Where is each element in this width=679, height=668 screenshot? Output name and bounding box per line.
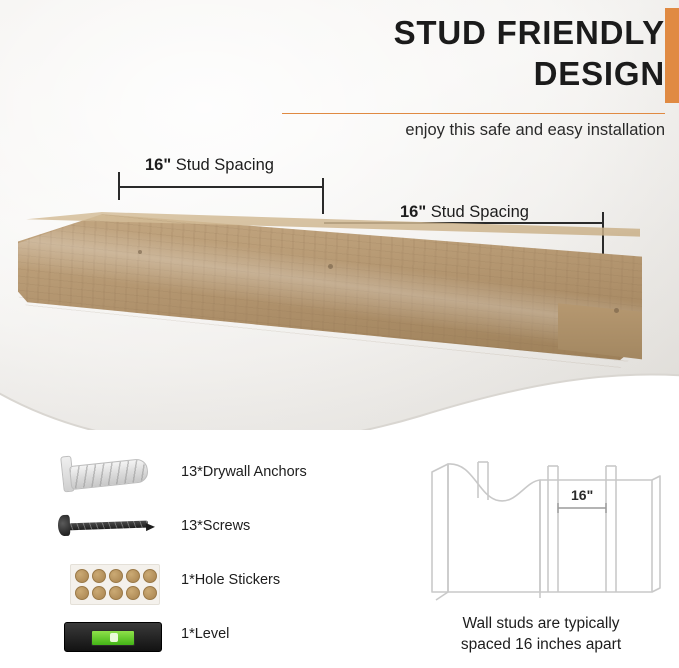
subheadline: enjoy this safe and easy installation bbox=[265, 121, 665, 140]
sticker-dot bbox=[143, 586, 157, 600]
anchor-threads bbox=[70, 459, 148, 489]
anchor-body bbox=[69, 458, 149, 490]
wood-knot bbox=[614, 308, 619, 313]
drywall-anchor-icon bbox=[46, 448, 156, 500]
bubble-level-icon bbox=[46, 610, 156, 662]
dimension-line-left bbox=[118, 186, 324, 188]
wood-knot bbox=[138, 250, 142, 254]
dimension-left-value: 16" bbox=[145, 156, 171, 174]
screw-threads bbox=[66, 521, 148, 531]
accessories-section: 13*Drywall Anchors 13*Screws bbox=[0, 430, 679, 668]
swoosh-divider bbox=[0, 330, 679, 430]
stud-diagram-caption: Wall studs are typically spaced 16 inche… bbox=[416, 614, 666, 656]
headline: STUD FRIENDLY DESIGN bbox=[245, 12, 665, 95]
sticker-dot bbox=[126, 569, 140, 583]
sticker-dot bbox=[75, 569, 89, 583]
dimension-cap-left-start bbox=[118, 172, 120, 200]
screw-shaft bbox=[66, 521, 148, 531]
wall-surface bbox=[448, 464, 540, 592]
wall-stud-diagram: 16" bbox=[420, 442, 664, 608]
screw-tip bbox=[146, 523, 155, 531]
hero-photo: STUD FRIENDLY DESIGN enjoy this safe and… bbox=[0, 0, 679, 430]
sticker-dot bbox=[109, 569, 123, 583]
part-label-anchors: 13*Drywall Anchors bbox=[181, 464, 307, 480]
part-row-level: 1*Level bbox=[28, 610, 398, 664]
sticker-dot bbox=[126, 586, 140, 600]
part-row-anchors: 13*Drywall Anchors bbox=[28, 448, 398, 502]
level-vial bbox=[91, 630, 135, 646]
parts-list: 13*Drywall Anchors 13*Screws bbox=[28, 448, 398, 664]
stud-spacing-measurement: 16" bbox=[571, 487, 593, 503]
dimension-label-left: 16" Stud Spacing bbox=[145, 156, 274, 175]
part-row-screws: 13*Screws bbox=[28, 502, 398, 556]
part-label-screws: 13*Screws bbox=[181, 518, 250, 534]
wall-edge-right bbox=[652, 476, 660, 592]
wall-panel-right bbox=[540, 480, 652, 592]
level-body bbox=[64, 622, 162, 652]
accent-bar bbox=[665, 8, 679, 103]
product-infographic: STUD FRIENDLY DESIGN enjoy this safe and… bbox=[0, 0, 679, 668]
stud-caption-line-2: spaced 16 inches apart bbox=[416, 635, 666, 656]
hole-stickers-icon bbox=[46, 556, 156, 608]
wood-knot bbox=[328, 264, 333, 269]
stud-caption-line-1: Wall studs are typically bbox=[416, 614, 666, 635]
headline-block: STUD FRIENDLY DESIGN bbox=[245, 12, 665, 95]
level-bubble bbox=[110, 633, 118, 642]
sticker-dot bbox=[143, 569, 157, 583]
screw-icon bbox=[46, 502, 156, 554]
headline-line-2: DESIGN bbox=[245, 53, 665, 94]
sticker-dot bbox=[92, 586, 106, 600]
wall-edge-left bbox=[432, 464, 448, 592]
headline-line-1: STUD FRIENDLY bbox=[394, 14, 665, 51]
part-label-stickers: 1*Hole Stickers bbox=[181, 572, 280, 588]
sticker-sheet bbox=[70, 564, 160, 605]
part-row-stickers: 1*Hole Stickers bbox=[28, 556, 398, 610]
screw-head bbox=[58, 515, 71, 536]
divider-rule bbox=[282, 113, 665, 114]
sticker-dot bbox=[75, 586, 89, 600]
sticker-dot bbox=[109, 586, 123, 600]
floor-line-left bbox=[436, 592, 448, 600]
sticker-dot bbox=[92, 569, 106, 583]
part-label-level: 1*Level bbox=[181, 626, 229, 642]
dimension-left-text: Stud Spacing bbox=[171, 156, 274, 174]
